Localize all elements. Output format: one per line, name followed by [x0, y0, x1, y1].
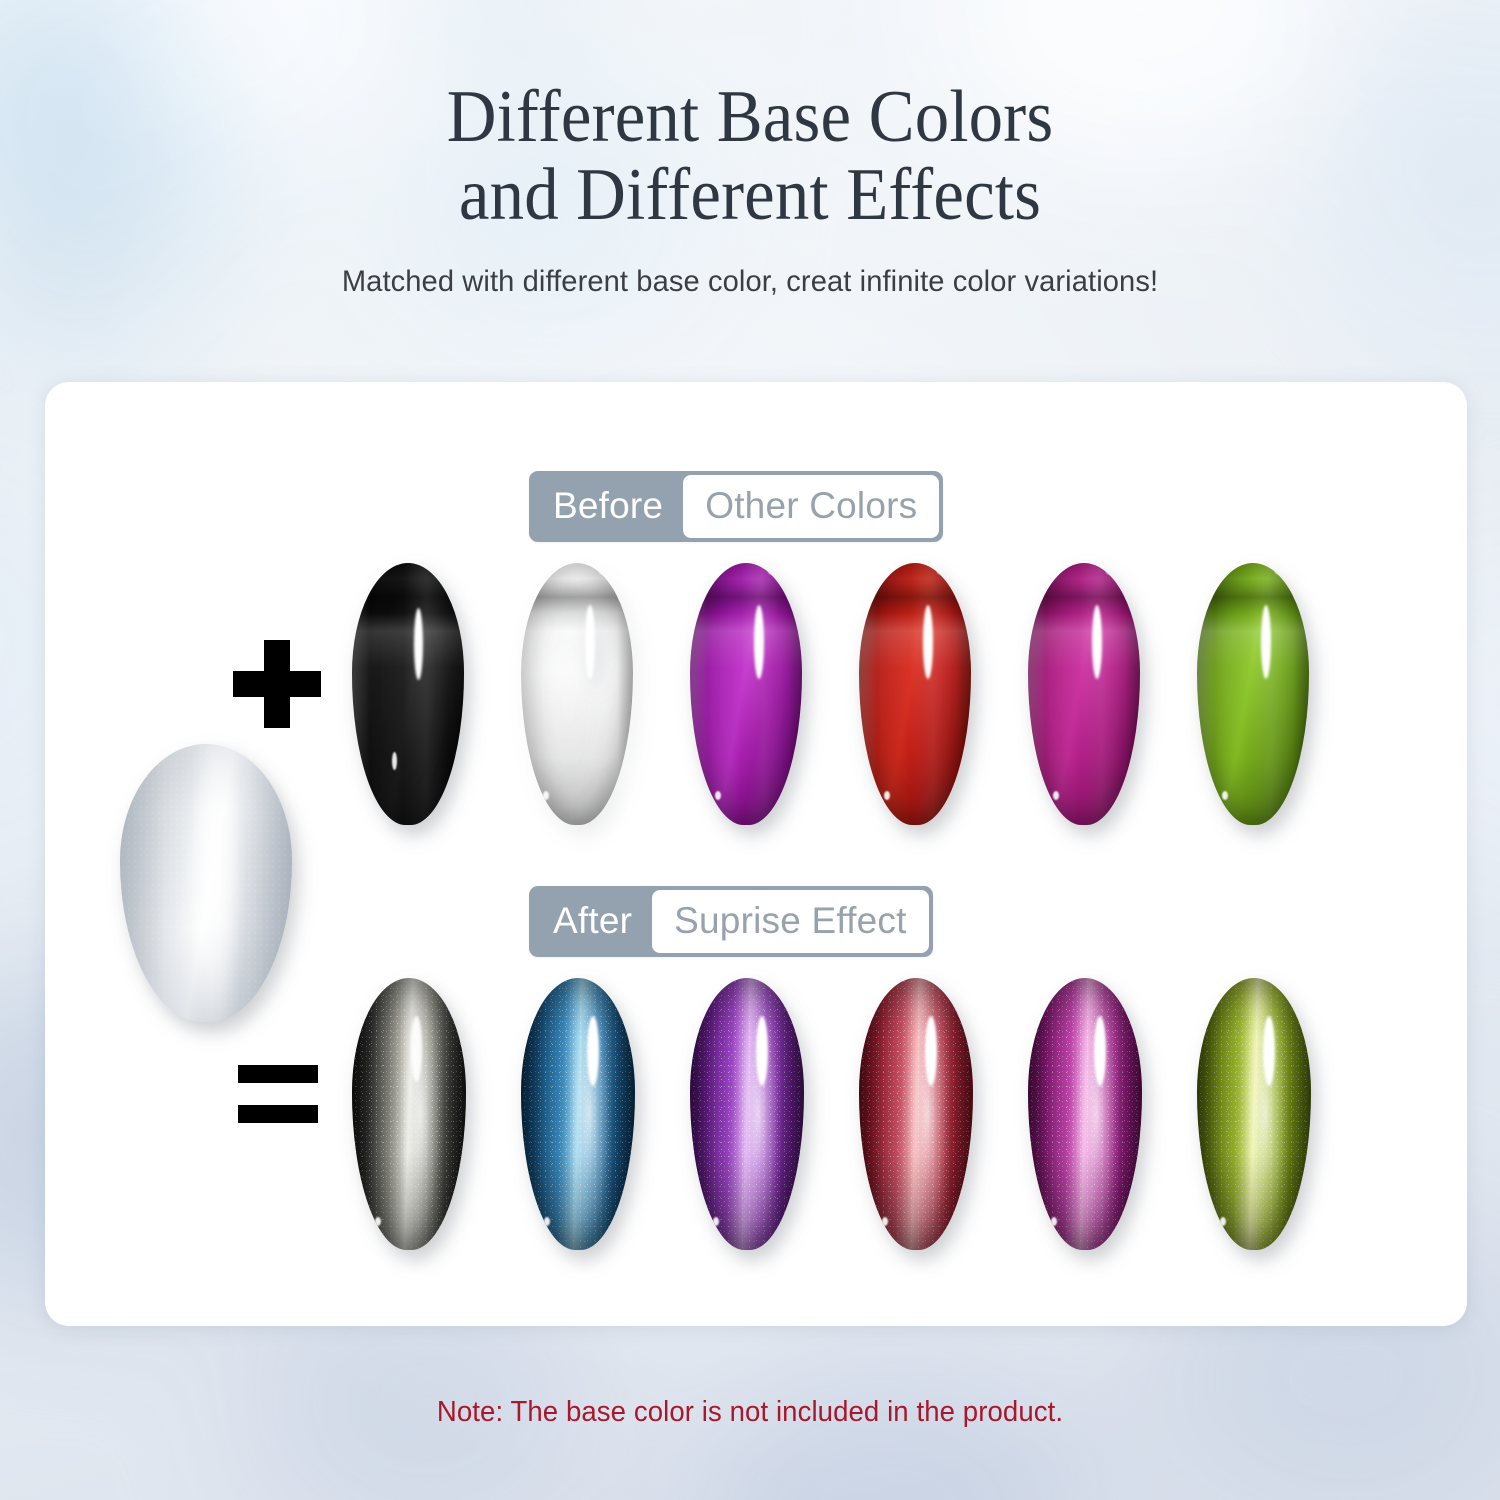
before-nail-blue — [521, 563, 633, 825]
nail-sheen — [120, 744, 292, 1022]
after-badge-group: After Suprise Effect — [529, 886, 933, 957]
page-title: Different Base Colors and Different Effe… — [53, 78, 1448, 235]
before-nail-magenta — [1028, 563, 1140, 825]
before-badge-caption: Other Colors — [683, 475, 939, 538]
after-nail-green — [1197, 978, 1311, 1250]
title-line-1: Different Base Colors — [447, 76, 1054, 158]
nail-highlight-streak — [923, 605, 933, 679]
nail-highlight-streak — [754, 605, 764, 679]
before-badge-group: Before Other Colors — [529, 471, 943, 542]
after-nail-silver-black — [352, 978, 466, 1250]
base-nail-silver — [120, 744, 292, 1022]
disclaimer-note: Note: The base color is not included in … — [38, 1396, 1463, 1429]
header: Different Base Colors and Different Effe… — [0, 78, 1500, 299]
before-nail-green — [1197, 563, 1309, 825]
nail-highlight-streak — [585, 605, 595, 679]
nail-tip-dot — [884, 791, 890, 800]
equals-icon — [238, 1065, 318, 1125]
nail-highlight-streak — [1092, 605, 1102, 679]
nail-tip-dot — [1222, 791, 1228, 800]
nail-tip-dot — [715, 791, 721, 800]
nail-tip-dot — [1053, 791, 1059, 800]
nail-highlight-streak — [414, 608, 423, 680]
title-line-2: and Different Effects — [53, 156, 1448, 234]
page-subtitle: Matched with different base color, creat… — [23, 265, 1478, 299]
plus-icon — [233, 640, 321, 728]
before-badge-label: Before — [533, 475, 683, 538]
after-nail-magenta — [1028, 978, 1142, 1250]
before-nail-purple — [690, 563, 802, 825]
after-nail-red — [859, 978, 973, 1250]
after-badge-caption: Suprise Effect — [652, 890, 928, 953]
nail-highlight-streak — [1261, 605, 1271, 679]
after-nail-purple — [690, 978, 804, 1250]
after-nail-blue — [521, 978, 635, 1250]
after-badge-label: After — [533, 890, 652, 953]
before-nail-black — [352, 563, 464, 825]
before-nail-red — [859, 563, 971, 825]
